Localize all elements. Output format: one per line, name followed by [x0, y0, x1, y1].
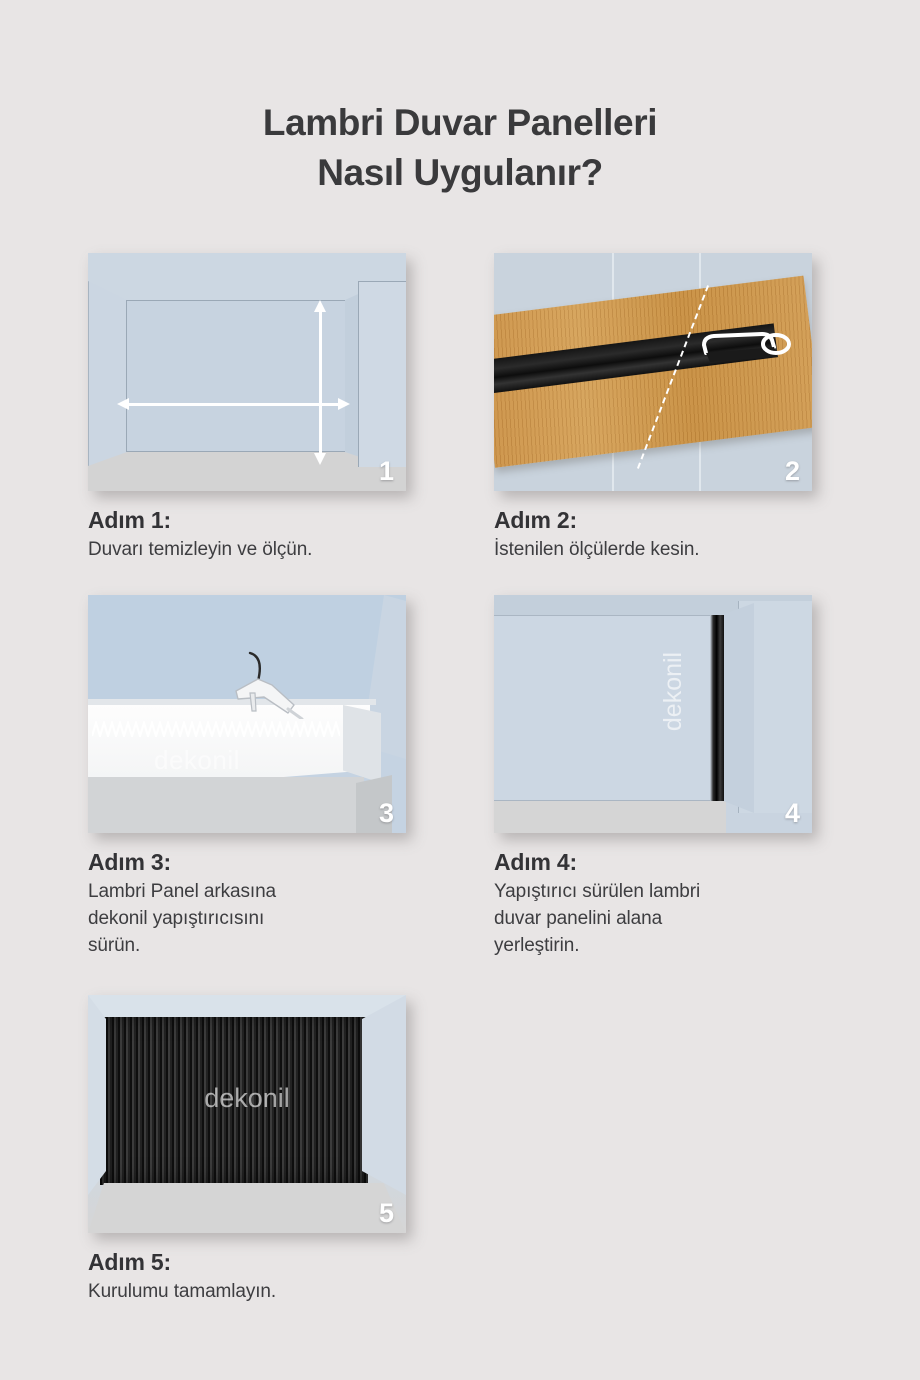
step-4-caption: Adım 4: Yapıştırıcı sürülen lambri duvar…	[494, 847, 824, 958]
brand-watermark: dekonil	[659, 652, 688, 731]
step-1-heading: Adım 1:	[88, 505, 418, 535]
step-5-body-line-1: Kurulumu tamamlayın.	[88, 1279, 418, 1304]
height-measure-arrow-icon	[319, 311, 322, 454]
step-1-illustration: 1	[88, 253, 406, 491]
step-2-heading: Adım 2:	[494, 505, 824, 535]
step-item-5: dekonil 5 Adım 5: Kurulumu tamamlayın.	[88, 995, 418, 1304]
step-number-badge: 5	[379, 1198, 394, 1229]
room-back-wall	[126, 300, 346, 452]
step-item-4: dekonil 4 Adım 4: Yapıştırıcı sürülen la…	[494, 595, 824, 958]
step-5-illustration: dekonil 5	[88, 995, 406, 1233]
brand-watermark: dekonil	[88, 1083, 406, 1114]
caulking-gun-icon	[228, 647, 312, 719]
panel-lower-body	[88, 777, 364, 833]
adhesive-bead-zigzag	[92, 721, 340, 737]
step-number-badge: 2	[785, 456, 800, 487]
step-5-caption: Adım 5: Kurulumu tamamlayın.	[88, 1247, 418, 1304]
step-number-badge: 4	[785, 798, 800, 829]
step-2-body-line-1: İstenilen ölçülerde kesin.	[494, 537, 824, 562]
floor	[494, 801, 726, 833]
step-number-badge: 3	[379, 798, 394, 829]
step-3-caption: Adım 3: Lambri Panel arkasına dekonil ya…	[88, 847, 418, 958]
room-far-right-wall	[358, 281, 406, 467]
step-4-body-line-2: duvar panelini alana	[494, 906, 824, 931]
floor-bevel	[88, 1183, 406, 1233]
step-1-caption: Adım 1: Duvarı temizleyin ve ölçün.	[88, 505, 418, 562]
room-left-wall	[88, 281, 127, 466]
step-3-body-line-1: Lambri Panel arkasına	[88, 879, 418, 904]
step-2-illustration: 2	[494, 253, 812, 491]
page-title-line-1: Lambri Duvar Panelleri	[0, 98, 920, 148]
step-5-heading: Adım 5:	[88, 1247, 418, 1277]
step-number-badge: 1	[379, 456, 394, 487]
step-4-body-line-3: yerleştirin.	[494, 933, 824, 958]
ceiling-bevel	[88, 995, 406, 1017]
step-3-illustration: dekonil 3	[88, 595, 406, 833]
step-2-caption: Adım 2: İstenilen ölçülerde kesin.	[494, 505, 824, 562]
hacksaw-icon	[700, 331, 796, 369]
page-title-line-2: Nasıl Uygulanır?	[0, 148, 920, 198]
width-measure-arrow-icon	[128, 403, 339, 406]
step-3-heading: Adım 3:	[88, 847, 418, 877]
step-1-body-line-1: Duvarı temizleyin ve ölçün.	[88, 537, 418, 562]
step-4-body-line-1: Yapıştırıcı sürülen lambri	[494, 879, 824, 904]
step-4-heading: Adım 4:	[494, 847, 824, 877]
step-item-1: 1 Adım 1: Duvarı temizleyin ve ölçün.	[88, 253, 418, 562]
page-title: Lambri Duvar Panelleri Nasıl Uygulanır?	[0, 98, 920, 198]
wall-corner-side	[722, 603, 754, 813]
step-3-body-line-3: sürün.	[88, 933, 418, 958]
step-item-2: 2 Adım 2: İstenilen ölçülerde kesin.	[494, 253, 824, 562]
step-3-body-line-2: dekonil yapıştırıcısını	[88, 906, 418, 931]
step-4-illustration: dekonil 4	[494, 595, 812, 833]
panel-dark-edge	[710, 615, 724, 801]
panel-side-edge	[343, 705, 381, 783]
step-item-3: dekonil 3 Adım 3: Lambri Panel arkasına …	[88, 595, 418, 958]
